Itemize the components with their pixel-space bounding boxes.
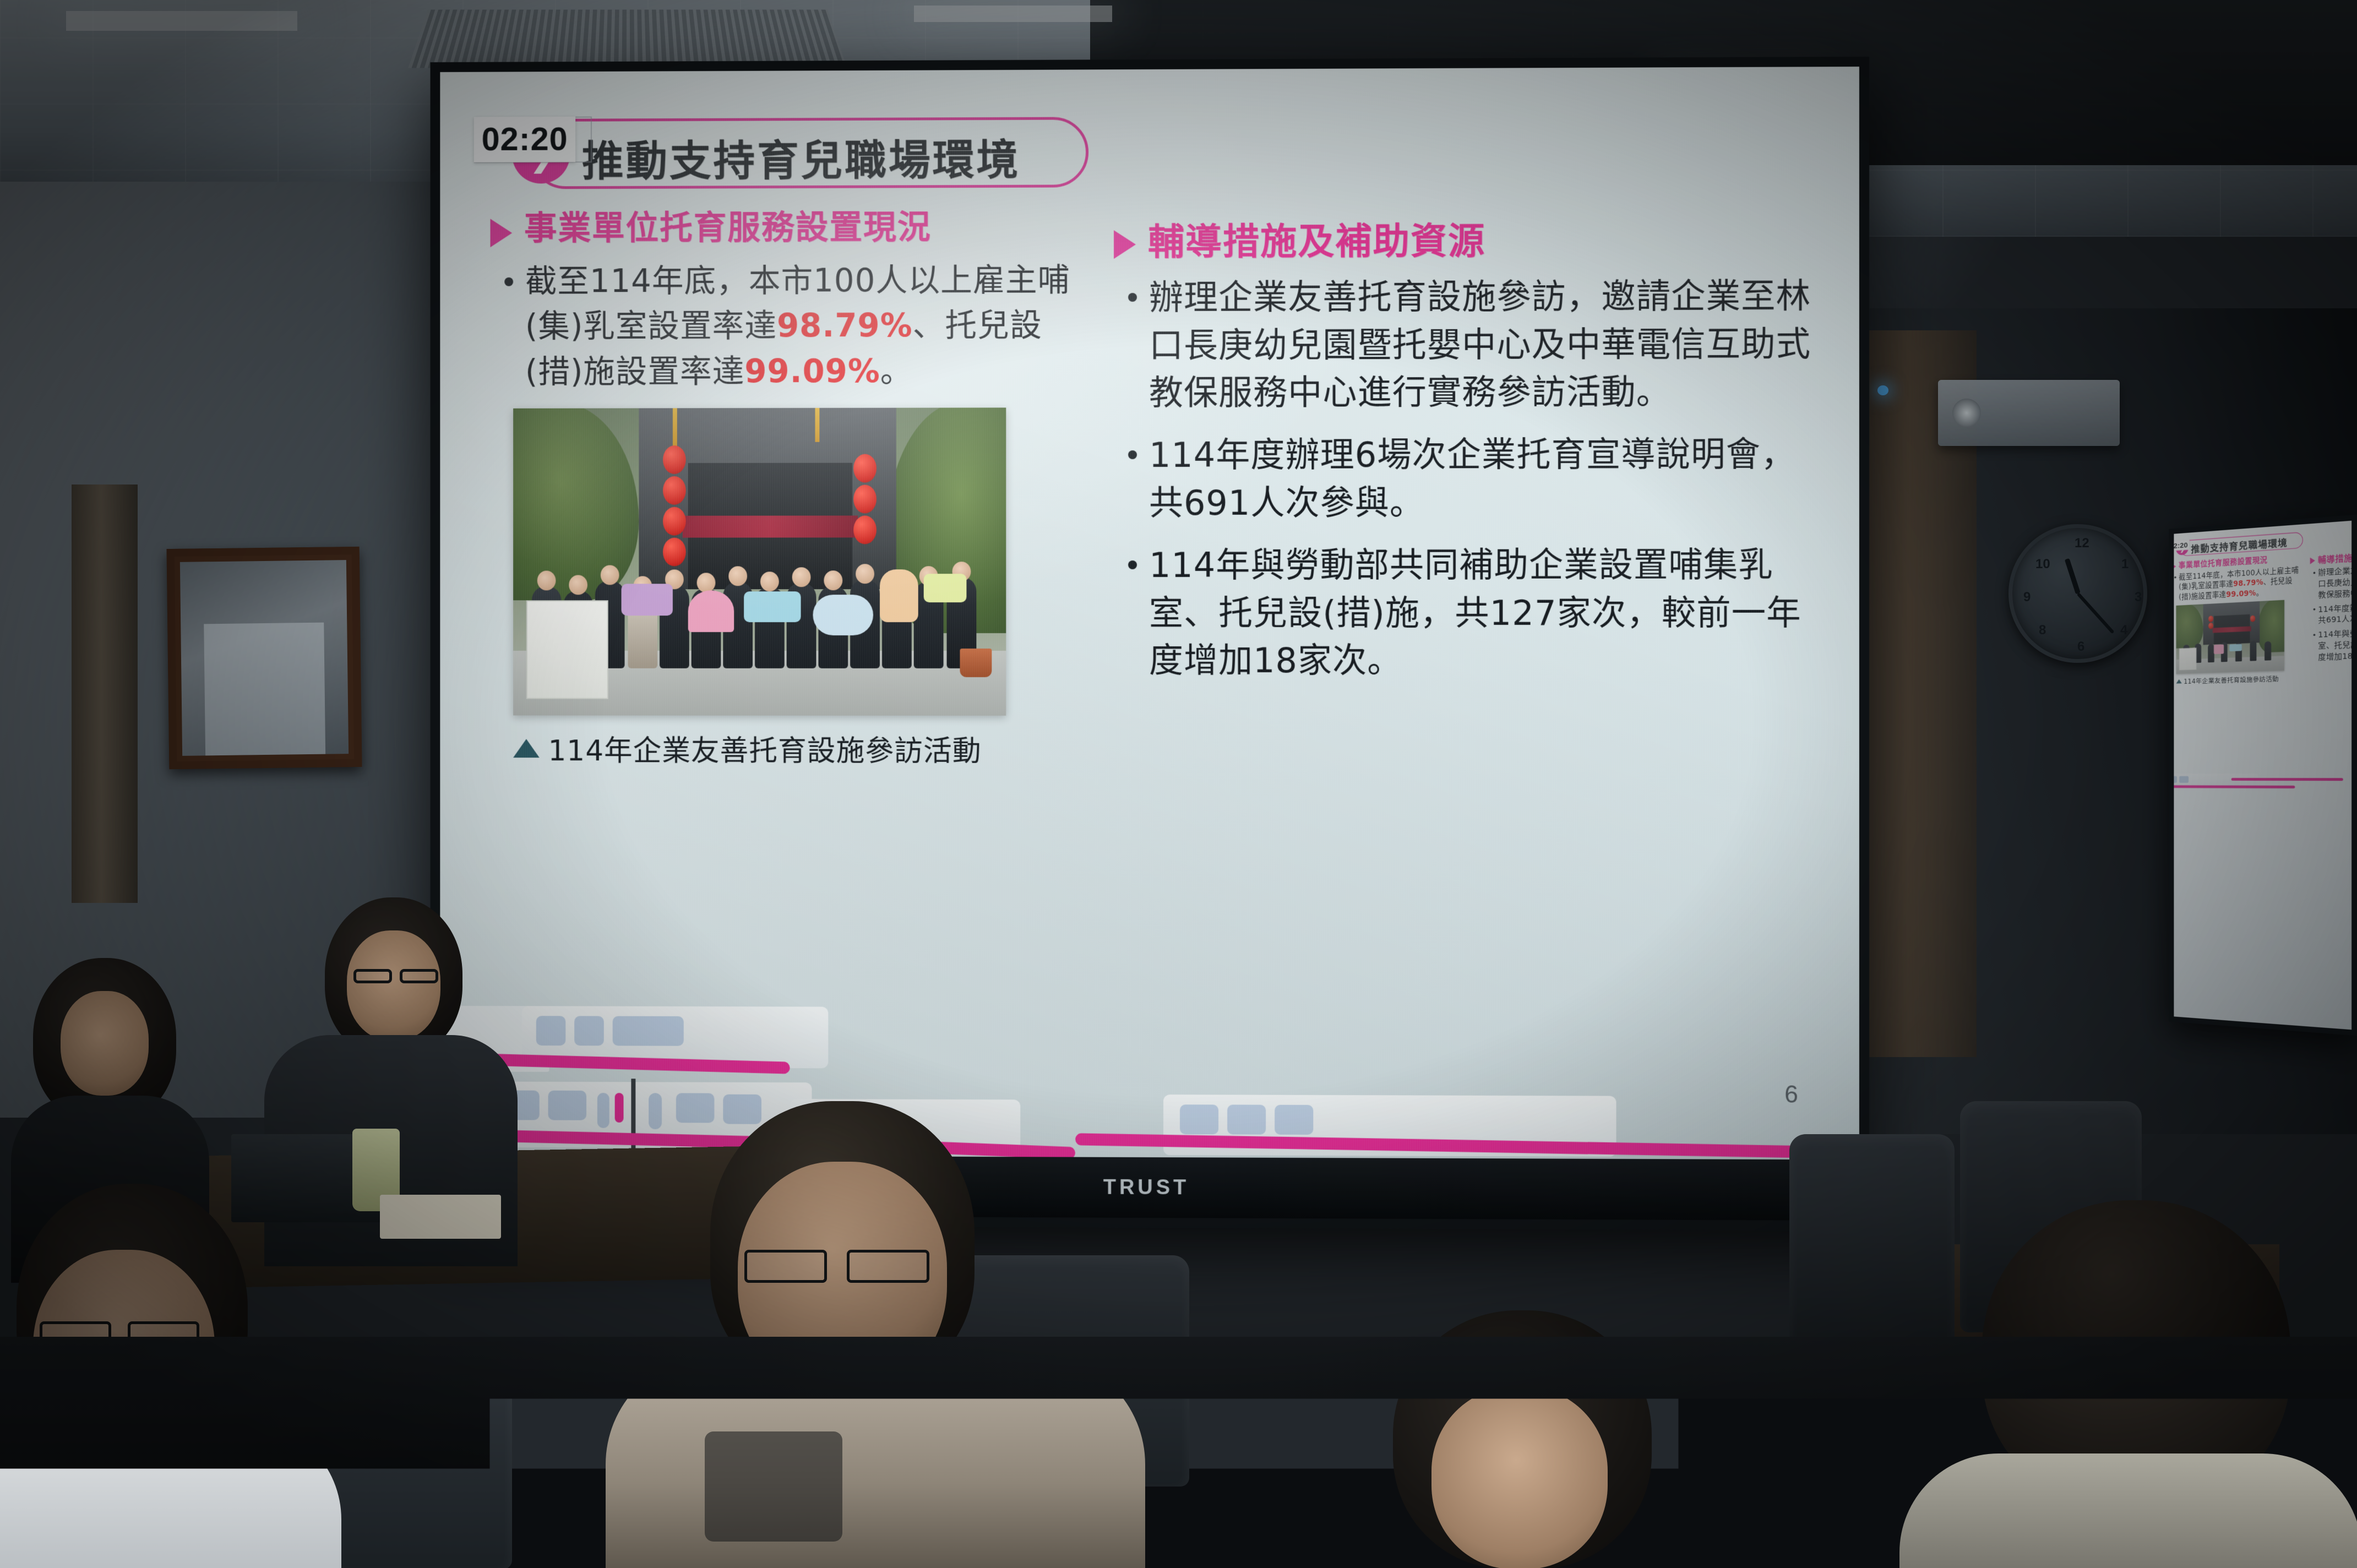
right-bullet-1-text: 辦理企業友善托育設施參訪，邀請企業至林口長庚幼兒園暨托嬰中心及中華電信互助式教保… [1149,273,1820,417]
high-speed-train-graphic [440,996,1859,1160]
bullet-dot-icon [504,277,513,286]
bullet-dot-icon [1128,450,1137,459]
list-item: 辦理企業友善托育設施參訪，邀請企業至林口長庚幼兒園暨托嬰中心及中華電信互助式教保… [1128,273,1820,417]
clock-hour-hand [2064,558,2080,595]
list-item: 114年度辦理6場次企業托育宣導說明會，共691人次參與。 [1128,431,1820,527]
left-heading-text: 事業單位托育服務設置現況 [524,209,932,248]
name-plate [380,1195,501,1239]
arrow-marker-icon [490,219,512,247]
secondary-monitor-display: ❯ 推動支持育兒職場環境 02:20 事業單位托育服務設置現況 [2174,521,2351,1030]
projector-lens-icon [1952,399,1981,427]
conference-room-scene: 12 1 3 4 6 8 9 10 ❯ 推動支持育兒職場環境 02:20 [0,0,2357,1568]
certificate-inner [180,560,349,756]
caption-triangle-icon [513,739,540,758]
arrow-marker-icon [1114,230,1136,259]
clock-minute-hand [2077,592,2115,634]
left-column: 事業單位托育服務設置現況 截至114年底，本市100人以上雇主哺(集)乳室設置率… [490,208,1082,769]
wall-clock: 12 1 3 4 6 8 9 10 [2008,524,2147,663]
screen-display-surface[interactable]: ❯ 推動支持育兒職場環境 02:20 事業單位托育服務設置現況 [440,67,1859,1159]
photo-lantern-icon [853,454,877,483]
photo-lantern-icon [663,445,686,474]
certificate-paper [204,622,325,755]
photo-lantern-icon [663,476,686,505]
chair [1789,1134,1955,1354]
ceiling-light [914,6,1112,22]
projection-screen[interactable]: ❯ 推動支持育兒職場環境 02:20 事業單位托育服務設置現況 [431,57,1870,1231]
left-wall-wood-panel [72,484,138,903]
list-item: 114年與勞動部共同補助企業設置哺集乳室、托兒設(措)施，共127家次，較前一年… [1128,541,1820,685]
bullet-highlight-98: 98.79% [777,307,913,344]
bullet-dot-icon [1128,560,1137,569]
page-title: 推動支持育兒職場環境 [582,126,1020,188]
countdown-timer: 02:20 [474,117,576,162]
list-item: 截至114年底，本市100人以上雇主哺(集)乳室設置率達98.79%、托兒設(措… [504,257,1082,394]
slide-title-area: ❯ 推動支持育兒職場環境 02:20 [478,101,1821,210]
bullet-dot-icon [1128,293,1137,302]
bullet-highlight-99: 99.09% [744,352,880,390]
foreground-table [0,1337,2357,1568]
ceiling-projector [1938,380,2120,446]
right-column: 輔導措施及補助資源 辦理企業友善托育設施參訪，邀請企業至林口長庚幼兒園暨托嬰中心… [1114,206,1820,770]
photo-flower-pot [960,649,992,677]
right-bullet-2-text: 114年度辦理6場次企業托育宣導說明會，共691人次參與。 [1149,431,1820,527]
wall-framed-certificate [167,547,362,769]
secondary-monitor[interactable]: ❯ 推動支持育兒職場環境 02:20 事業單位托育服務設置現況 [2169,515,2357,1036]
right-column-heading: 輔導措施及補助資源 [1114,220,1820,264]
slide-body-columns: 事業單位托育服務設置現況 截至114年底，本市100人以上雇主哺(集)乳室設置率… [478,206,1821,770]
presentation-slide: ❯ 推動支持育兒職場環境 02:20 事業單位托育服務設置現況 [440,67,1859,1159]
left-column-heading: 事業單位托育服務設置現況 [490,208,1082,248]
left-bullet-1-text: 截至114年底，本市100人以上雇主哺(集)乳室設置率達98.79%、托兒設(措… [525,257,1082,394]
photo-caption-text: 114年企業友善托育設施參訪活動 [548,727,982,769]
photo-lantern-icon [853,485,877,514]
right-heading-text: 輔導措施及補助資源 [1148,220,1485,263]
right-bullet-3-text: 114年與勞動部共同補助企業設置哺集乳室、托兒設(措)施，共127家次，較前一年… [1149,541,1820,685]
photo-caption: 114年企業友善托育設施參訪活動 [513,727,1082,769]
ceiling-vent [408,9,847,68]
projector-status-light-icon [1877,385,1888,395]
photo-standing-poster [526,600,608,699]
bullet-part: 。 [880,352,913,390]
page-number: 6 [1784,1081,1798,1108]
event-group-photo [513,407,1006,715]
ceiling-light [66,11,297,31]
secondary-monitor-glare [2174,521,2351,1030]
screen-brand-label: TRUST [1103,1175,1190,1200]
